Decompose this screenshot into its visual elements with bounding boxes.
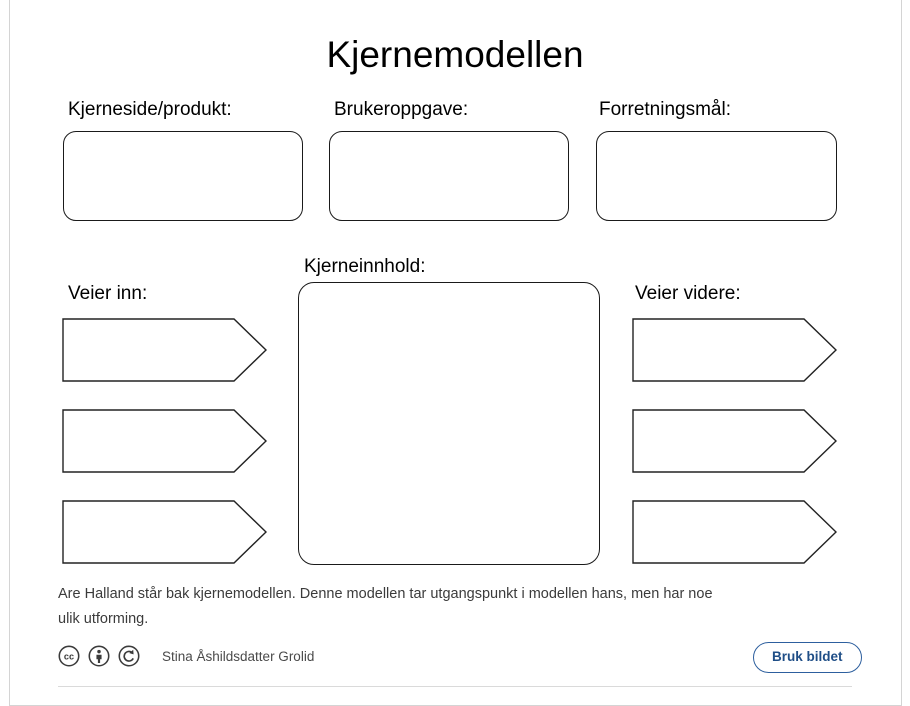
arrow-right-icon — [632, 318, 837, 382]
arrow-veier-videre-3[interactable] — [632, 500, 837, 564]
arrow-right-icon — [632, 500, 837, 564]
label-forretningsmal: Forretningsmål: — [599, 99, 731, 121]
creative-commons-icon: cc — [58, 645, 80, 667]
kjernemodellen-canvas: Kjernemodellen Kjerneside/produkt: Bruke… — [0, 0, 910, 706]
attribution-caption: Are Halland står bak kjernemodellen. Den… — [58, 582, 728, 632]
label-veier-videre: Veier videre: — [635, 283, 741, 305]
label-kjerneside-produkt: Kjerneside/produkt: — [68, 99, 232, 121]
input-box-kjerneinnhold[interactable] — [298, 282, 600, 565]
svg-text:cc: cc — [64, 652, 74, 662]
arrow-veier-inn-2[interactable] — [62, 409, 267, 473]
license-row: cc Stina Åshildsdatter Grolid — [58, 645, 314, 667]
cc-sharealike-icon — [118, 645, 140, 667]
arrow-veier-videre-2[interactable] — [632, 409, 837, 473]
arrow-right-icon — [62, 500, 267, 564]
page-title: Kjernemodellen — [0, 34, 910, 76]
use-image-button[interactable]: Bruk bildet — [753, 642, 862, 673]
cc-by-person-icon — [88, 645, 110, 667]
label-kjerneinnhold: Kjerneinnhold: — [304, 256, 425, 278]
input-box-kjerneside-produkt[interactable] — [63, 131, 303, 221]
arrow-right-icon — [632, 409, 837, 473]
label-brukeroppgave: Brukeroppgave: — [334, 99, 468, 121]
label-veier-inn: Veier inn: — [68, 283, 147, 305]
arrow-right-icon — [62, 318, 267, 382]
arrow-veier-inn-1[interactable] — [62, 318, 267, 382]
input-box-forretningsmal[interactable] — [596, 131, 837, 221]
arrow-veier-inn-3[interactable] — [62, 500, 267, 564]
footer-divider — [58, 686, 852, 687]
arrow-right-icon — [62, 409, 267, 473]
author-name: Stina Åshildsdatter Grolid — [162, 649, 314, 664]
arrow-veier-videre-1[interactable] — [632, 318, 837, 382]
input-box-brukeroppgave[interactable] — [329, 131, 569, 221]
